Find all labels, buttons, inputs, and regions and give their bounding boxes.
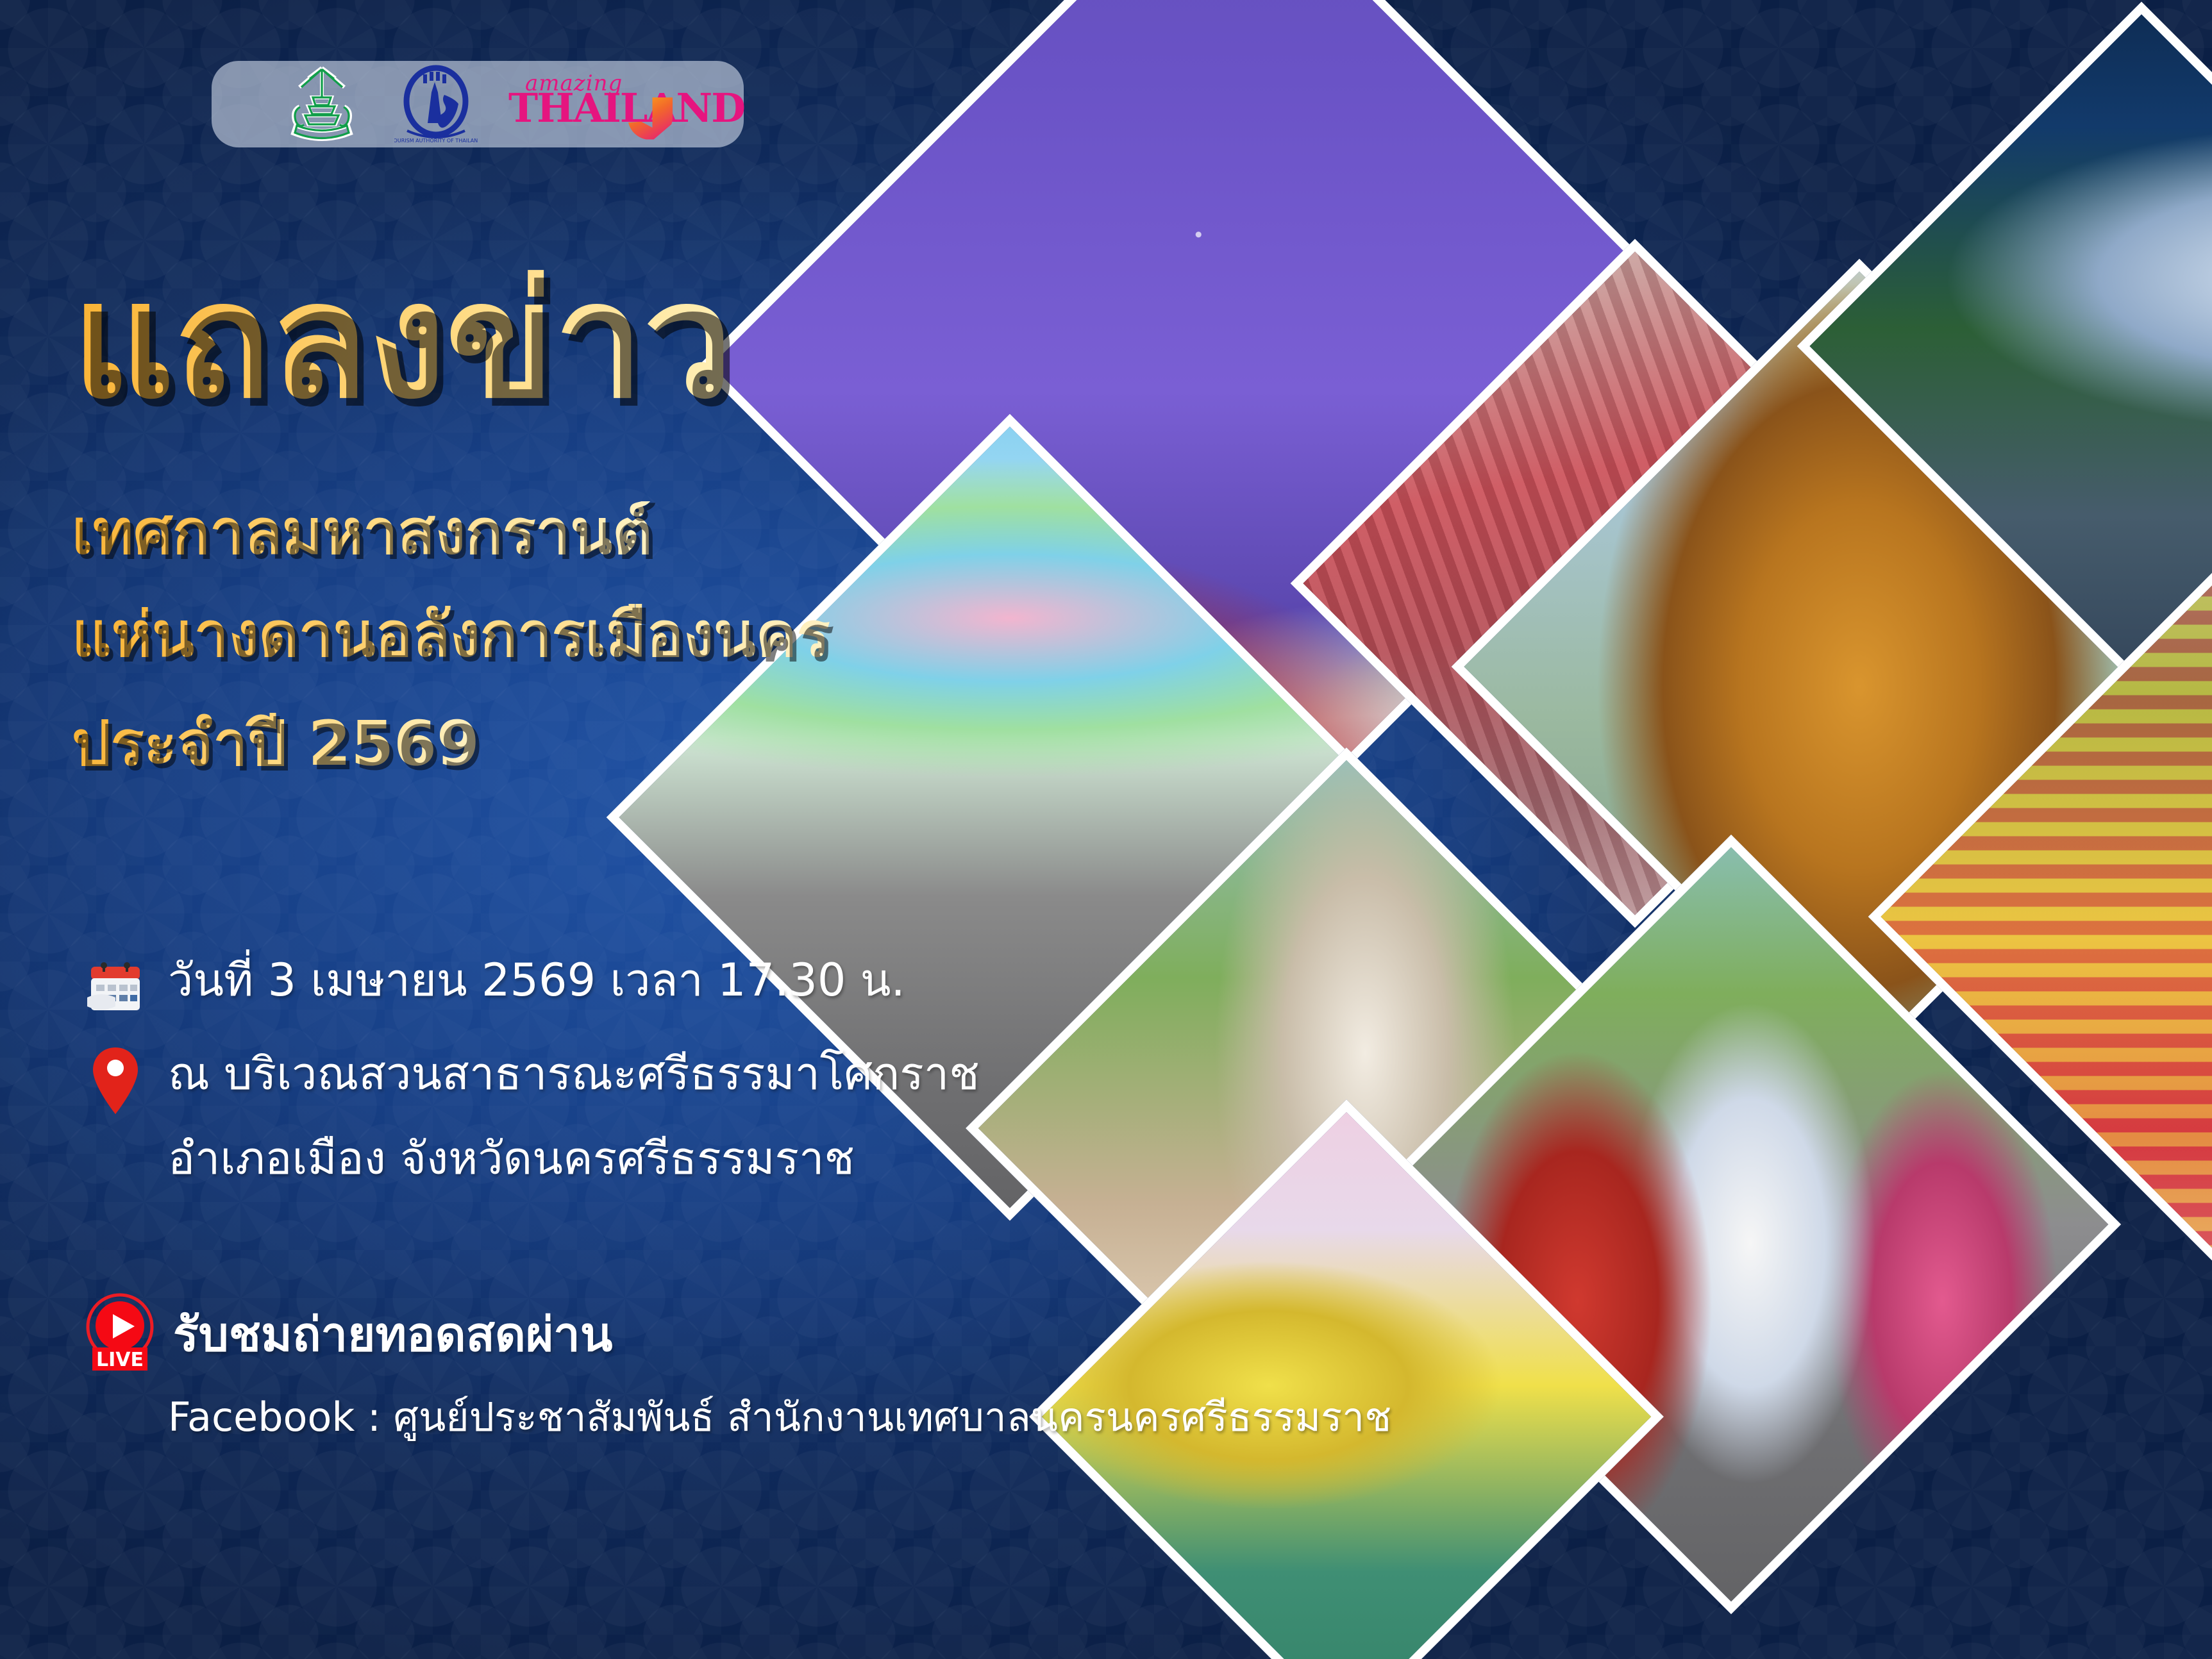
event-location-line-1: ณ บริเวณสวนสาธารณะศรีธรรมาโศกราช	[168, 1050, 980, 1099]
facebook-channel-text: Facebook : ศูนย์ประชาสัมพันธ์ สำนักงานเท…	[168, 1386, 1391, 1449]
live-stream-text: รับชมถ่ายทอดสดผ่าน	[173, 1296, 612, 1372]
location-pin-icon	[90, 1045, 141, 1117]
live-play-icon: LIVE	[82, 1291, 158, 1374]
subtitle-line-1: เทศกาลมหาสงกรานต์	[72, 501, 652, 563]
calendar-icon	[83, 956, 147, 1021]
logo-bar: TOURISM AUTHORITY OF THAILAND amazing TH…	[212, 61, 744, 147]
subtitle-line-3: ประจำปี 2569	[72, 713, 480, 774]
event-date-text: วันที่ 3 เมษายน 2569 เวลา 17.30 น.	[168, 956, 905, 1005]
thailand-word: THAILAND	[508, 88, 744, 128]
subtitle-line-2: แห่นางดานอลังการเมืองนคร	[72, 604, 830, 665]
poster-canvas: TOURISM AUTHORITY OF THAILAND amazing TH…	[0, 0, 2212, 1659]
page-title: แถลงข่าว	[72, 262, 733, 421]
amazing-thailand-logo: amazing THAILAND	[508, 69, 675, 140]
tat-logo-caption: TOURISM AUTHORITY OF THAILAND	[394, 138, 478, 144]
event-location-line-2: อำเภอเมือง จังหวัดนครศรีธรรมราช	[168, 1135, 855, 1183]
tourism-authority-logo: TOURISM AUTHORITY OF THAILAND	[394, 64, 478, 144]
city-emblem-logo	[280, 64, 364, 144]
live-badge-label: LIVE	[96, 1349, 144, 1371]
